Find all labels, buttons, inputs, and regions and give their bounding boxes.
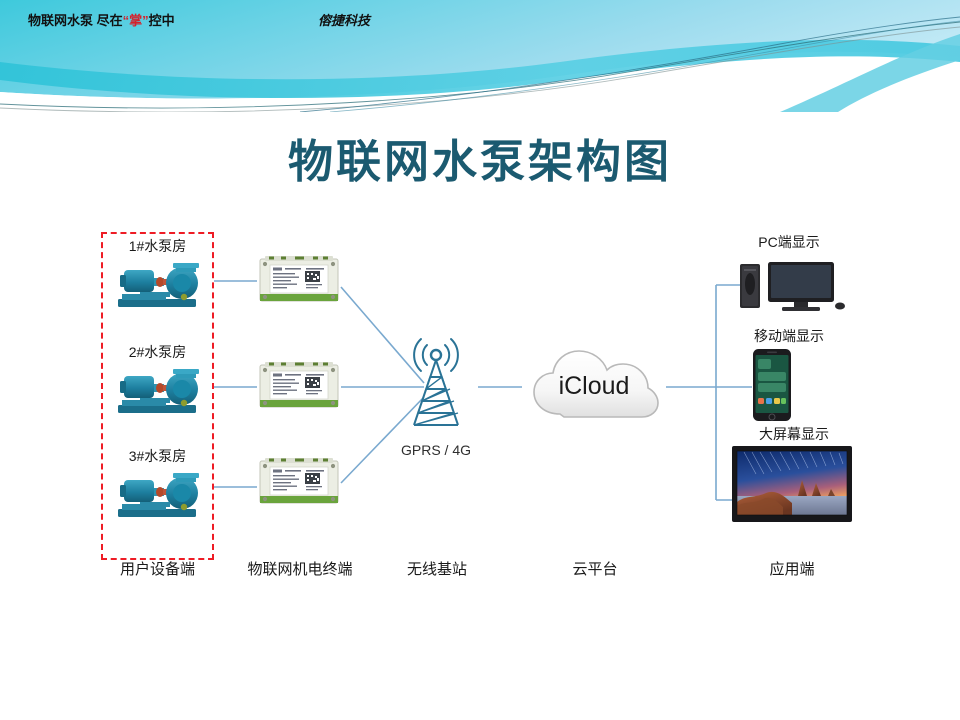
header-tagline-part1: 物联网水泵 尽在	[28, 13, 123, 28]
cell-tower-icon	[388, 325, 484, 435]
category-iot-terminal: 物联网机电终端	[222, 560, 378, 580]
header-tagline-part2: 控中	[149, 13, 175, 28]
pump-station-1: 1#水泵房	[101, 237, 214, 312]
cloud-platform-label: iCloud	[522, 372, 666, 400]
base-station-label: GPRS / 4G	[388, 442, 484, 458]
category-cloud-platform: 云平台	[530, 560, 660, 580]
pump-station-2-label: 2#水泵房	[101, 343, 214, 361]
app-mobile-display-label: 移动端显示	[714, 327, 864, 345]
water-pump-icon	[110, 468, 206, 522]
desktop-computer-icon	[736, 254, 846, 316]
category-application: 应用端	[722, 560, 862, 580]
app-large-screen-display-label: 大屏幕显示	[714, 425, 874, 443]
iot-terminal-module-icon	[257, 359, 341, 415]
app-mobile-display: 移动端显示	[714, 327, 864, 422]
category-user-equipment: 用户设备端	[100, 560, 215, 580]
iot-terminal-module-icon	[257, 253, 341, 309]
pump-station-3: 3#水泵房	[101, 447, 214, 522]
pump-station-2: 2#水泵房	[101, 343, 214, 418]
header-tagline: 物联网水泵 尽在“掌”控中	[28, 13, 175, 29]
architecture-diagram: 1#水泵房	[0, 215, 960, 595]
large-screen-display-icon	[732, 446, 852, 522]
iot-terminal-3	[257, 455, 341, 511]
header-tagline-highlight: 掌	[129, 13, 142, 28]
water-pump-icon	[110, 364, 206, 418]
pump-station-1-label: 1#水泵房	[101, 237, 214, 255]
iot-terminal-2	[257, 359, 341, 415]
app-large-screen-display: 大屏幕显示	[714, 425, 874, 522]
pump-station-3-label: 3#水泵房	[101, 447, 214, 465]
slide-canvas: 物联网水泵 尽在“掌”控中 傛捷科技 物联网水泵架构图	[0, 0, 960, 720]
page-title: 物联网水泵架构图	[0, 134, 960, 190]
wireless-base-station: GPRS / 4G	[388, 325, 484, 458]
cloud-platform: iCloud	[522, 342, 666, 428]
water-pump-icon	[110, 258, 206, 312]
iot-terminal-module-icon	[257, 455, 341, 511]
category-base-station: 无线基站	[382, 560, 492, 580]
brand-name: 傛捷科技	[318, 13, 370, 29]
smartphone-icon	[752, 348, 792, 422]
iot-terminal-1	[257, 253, 341, 309]
app-pc-display: PC端显示	[714, 233, 864, 316]
app-pc-display-label: PC端显示	[714, 233, 864, 251]
